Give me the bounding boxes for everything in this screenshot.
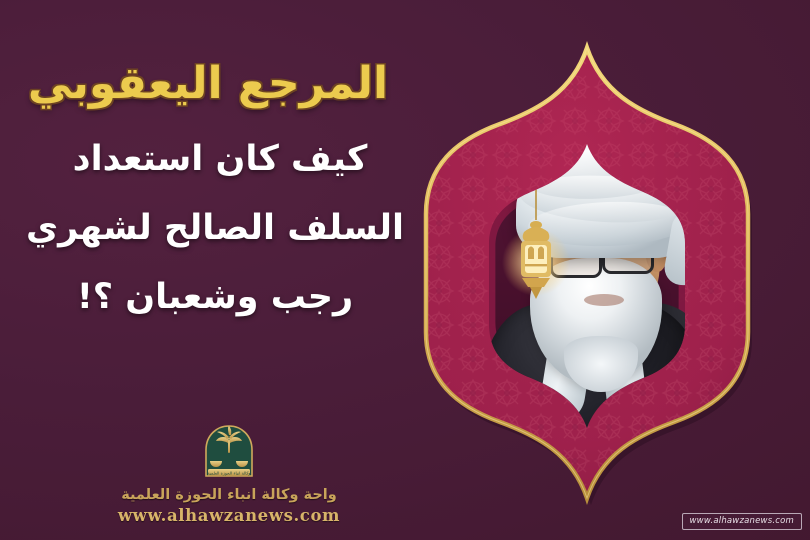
lantern-cap — [523, 227, 550, 241]
watermark-badge: www.alhawzanews.com — [682, 513, 802, 530]
agency-name: واحة وكالة انباء الحوزة العلمية — [104, 487, 354, 503]
headline-line-1: كيف كان استعداد — [0, 142, 430, 177]
agency-website[interactable]: www.alhawzanews.com — [104, 506, 354, 525]
portrait-frame — [388, 36, 792, 510]
text-column: المرجع اليعقوبي كيف كان استعداد السلف ال… — [0, 60, 430, 315]
emblem-caption-text: وكالة انباء الحوزة العلمية — [208, 471, 251, 476]
agency-logo-block[interactable]: وكالة انباء الحوزة العلمية واحة وكالة ان… — [104, 424, 354, 525]
headline-line-3: رجب وشعبان ؟! — [0, 280, 430, 315]
poster-canvas: المرجع اليعقوبي كيف كان استعداد السلف ال… — [0, 0, 810, 540]
page-title: المرجع اليعقوبي — [0, 60, 430, 108]
headline-line-2: السلف الصالح لشهري — [0, 211, 430, 246]
hanging-lantern — [388, 36, 792, 510]
hawza-news-arch-emblem: وكالة انباء الحوزة العلمية — [196, 424, 262, 486]
